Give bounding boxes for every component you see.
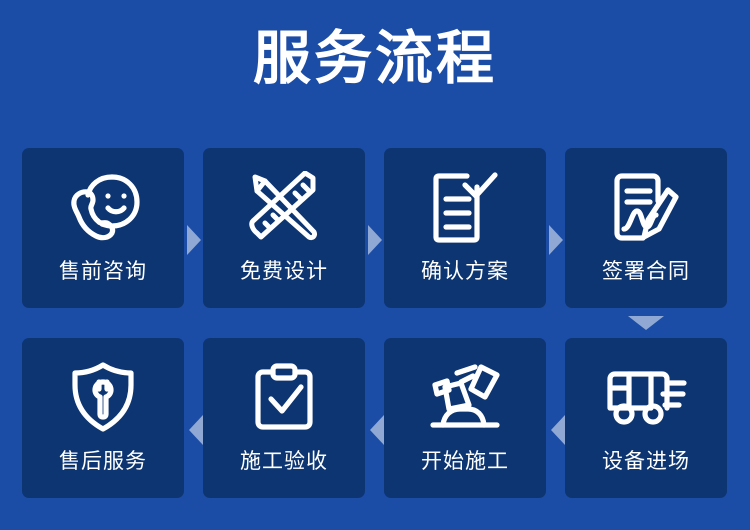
clipboard-check-icon bbox=[203, 356, 365, 438]
flow-step-label: 设备进场 bbox=[565, 446, 727, 476]
chevron-right-icon bbox=[368, 225, 382, 255]
flow-step-card-free-design[interactable]: 免费设计 bbox=[203, 148, 365, 308]
contract-signature-pen-icon bbox=[565, 166, 727, 248]
flow-step-label: 售后服务 bbox=[22, 446, 184, 476]
phone-smiley-icon bbox=[22, 166, 184, 248]
flow-step-card-equipment-entry[interactable]: 设备进场 bbox=[565, 338, 727, 498]
chevron-down-icon bbox=[628, 316, 664, 330]
flow-step-card-pre-sales-consultation[interactable]: 售前咨询 bbox=[22, 148, 184, 308]
flow-step-card-construction-acceptance[interactable]: 施工验收 bbox=[203, 338, 365, 498]
flow-step-label: 售前咨询 bbox=[22, 256, 184, 286]
chevron-right-icon bbox=[187, 225, 201, 255]
document-check-icon bbox=[384, 166, 546, 248]
flow-step-label: 开始施工 bbox=[384, 446, 546, 476]
flow-step-label: 签署合同 bbox=[565, 256, 727, 286]
flow-step-card-after-sales-service[interactable]: 售后服务 bbox=[22, 338, 184, 498]
chevron-left-icon bbox=[189, 415, 203, 445]
excavator-icon bbox=[384, 356, 546, 438]
flow-step-card-start-construction[interactable]: 开始施工 bbox=[384, 338, 546, 498]
chevron-left-icon bbox=[551, 415, 565, 445]
pencil-ruler-icon bbox=[203, 166, 365, 248]
flow-step-card-confirm-plan[interactable]: 确认方案 bbox=[384, 148, 546, 308]
page-title: 服务流程 bbox=[0, 22, 750, 94]
delivery-truck-icon bbox=[565, 356, 727, 438]
flow-step-label: 施工验收 bbox=[203, 446, 365, 476]
flow-step-label: 确认方案 bbox=[384, 256, 546, 286]
flow-step-label: 免费设计 bbox=[203, 256, 365, 286]
chevron-left-icon bbox=[370, 415, 384, 445]
flow-grid: 售前咨询 免费设计 bbox=[22, 148, 728, 498]
shield-wrench-icon bbox=[22, 356, 184, 438]
service-process-infographic: 服务流程 售前咨询 bbox=[0, 0, 750, 530]
flow-step-card-sign-contract[interactable]: 签署合同 bbox=[565, 148, 727, 308]
chevron-right-icon bbox=[549, 225, 563, 255]
